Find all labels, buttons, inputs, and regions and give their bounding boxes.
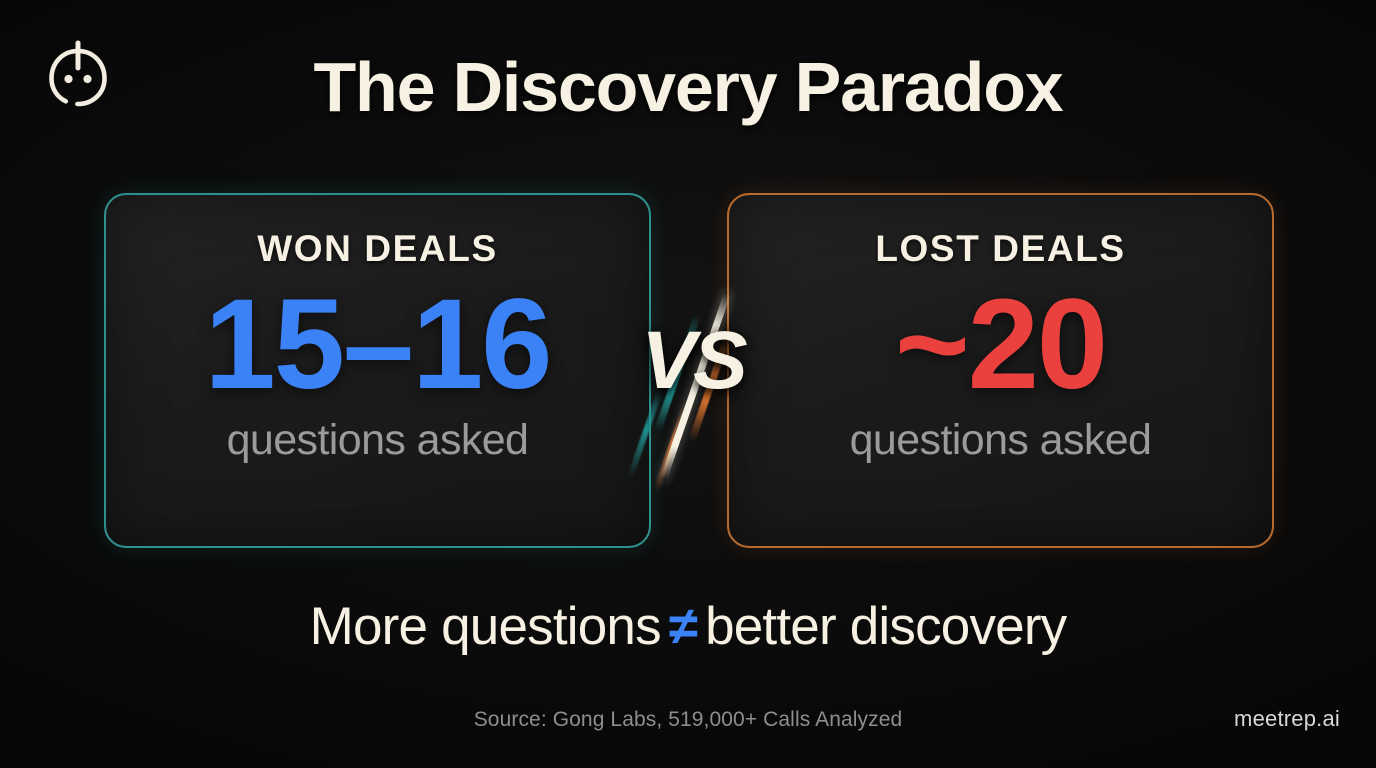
card-label-lost: LOST DEALS [875,228,1125,270]
comparison-cards: WON DEALS 15–16 questions asked LOST DEA… [104,193,1274,548]
card-sub-won: questions asked [227,416,529,465]
tagline: More questions≠better discovery [0,598,1376,656]
brand-watermark: meetrep.ai [1234,706,1340,732]
source-citation: Source: Gong Labs, 519,000+ Calls Analyz… [0,708,1376,732]
tagline-before: More questions [310,597,661,656]
card-figure-lost: ~20 [895,276,1106,414]
card-label-won: WON DEALS [257,228,498,270]
page-title: The Discovery Paradox [0,52,1376,122]
tagline-after: better discovery [705,597,1066,656]
card-sub-lost: questions asked [850,416,1152,465]
card-figure-won: 15–16 [205,276,551,414]
card-lost-deals: LOST DEALS ~20 questions asked [727,193,1274,548]
card-won-deals: WON DEALS 15–16 questions asked [104,193,651,548]
not-equal-icon: ≠ [661,597,705,656]
infographic-canvas: The Discovery Paradox WON DEALS 15–16 qu… [0,0,1376,768]
